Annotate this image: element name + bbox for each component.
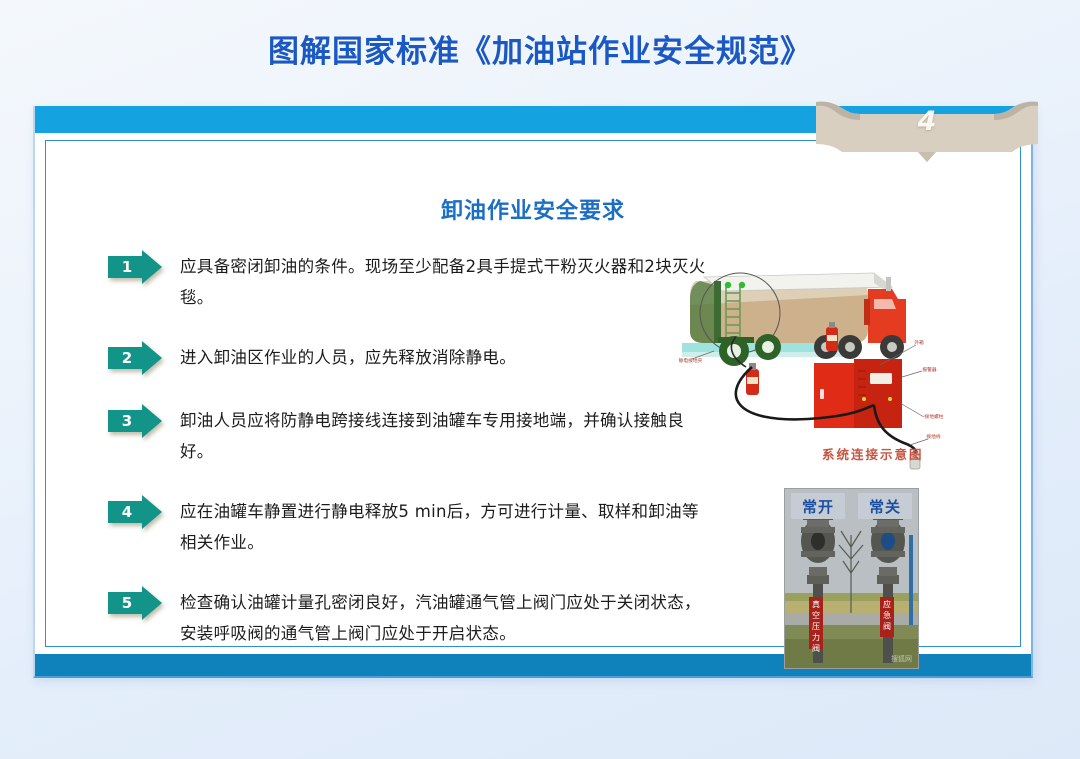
- list-item-number: 3: [108, 404, 146, 438]
- requirements-list: 1 应具备密闭卸油的条件。现场至少配备2具手提式干粉灭火器和2块灭火毯。 2 进…: [108, 249, 708, 649]
- page-number-ribbon: 4: [816, 100, 1038, 162]
- photo-banner-normally-open: 常开: [791, 493, 845, 519]
- diagram-label-outer-box: 外箱: [914, 339, 924, 346]
- list-item-text: 应具备密闭卸油的条件。现场至少配备2具手提式干粉灭火器和2块灭火毯。: [180, 249, 708, 313]
- list-item-number: 1: [108, 250, 146, 284]
- list-item-text: 进入卸油区作业的人员，应先释放消除静电。: [180, 340, 516, 373]
- page-number: 4: [816, 106, 1038, 137]
- section-title: 卸油作业安全要求: [46, 193, 1020, 225]
- list-item: 3 卸油人员应将防静电跨接线连接到油罐车专用接地端，并确认接触良好。: [108, 403, 708, 467]
- diagram-label-ground-stud: 接地螺柱: [925, 413, 944, 420]
- photo-watermark: 搜狐网: [891, 654, 912, 664]
- valve-photo: 常开 常关 真空压力阀 应急阀 搜狐网: [784, 488, 919, 669]
- list-item-text: 应在油罐车静置进行静电释放5 min后，方可进行计量、取样和卸油等相关作业。: [180, 494, 708, 558]
- list-item: 1 应具备密闭卸油的条件。现场至少配备2具手提式干粉灭火器和2块灭火毯。: [108, 249, 708, 313]
- list-item-text: 卸油人员应将防静电跨接线连接到油罐车专用接地端，并确认接触良好。: [180, 403, 708, 467]
- slide-content-panel: 卸油作业安全要求 1 应具备密闭卸油的条件。现场至少配备2具手提式干粉灭火器和2…: [45, 140, 1021, 647]
- valve-sign-emergency: 应急阀: [880, 597, 894, 637]
- diagram-caption: 系统连接示意图: [822, 444, 924, 463]
- page-title: 图解国家标准《加油站作业安全规范》: [0, 26, 1080, 71]
- diagram-label-static-clamp: 静电接地夹: [679, 357, 703, 364]
- system-connection-diagram: 外箱 报警器 接地螺柱 接地线 静电接地夹 系统连接示意图: [678, 247, 988, 472]
- list-item: 5 检查确认油罐计量孔密闭良好，汽油罐通气管上阀门应处于关闭状态，安装呼吸阀的通…: [108, 585, 708, 649]
- arrow-marker-icon: 3: [108, 404, 162, 438]
- list-item-number: 2: [108, 341, 146, 375]
- list-item-text: 检查确认油罐计量孔密闭良好，汽油罐通气管上阀门应处于关闭状态，安装呼吸阀的通气管…: [180, 585, 708, 649]
- list-item: 2 进入卸油区作业的人员，应先释放消除静电。: [108, 340, 708, 376]
- list-item-number: 4: [108, 495, 146, 529]
- valve-sign-vacuum-pressure: 真空压力阀: [809, 597, 823, 649]
- diagram-label-ground-cable: 接地线: [926, 433, 940, 440]
- arrow-marker-icon: 4: [108, 495, 162, 529]
- list-item-number: 5: [108, 586, 146, 620]
- arrow-marker-icon: 2: [108, 341, 162, 375]
- diagram-label-alarm: 报警器: [922, 366, 936, 373]
- arrow-marker-icon: 1: [108, 250, 162, 284]
- arrow-marker-icon: 5: [108, 586, 162, 620]
- slide-card: 卸油作业安全要求 1 应具备密闭卸油的条件。现场至少配备2具手提式干粉灭火器和2…: [33, 106, 1033, 678]
- list-item: 4 应在油罐车静置进行静电释放5 min后，方可进行计量、取样和卸油等相关作业。: [108, 494, 708, 558]
- photo-banner-normally-closed: 常关: [858, 493, 912, 519]
